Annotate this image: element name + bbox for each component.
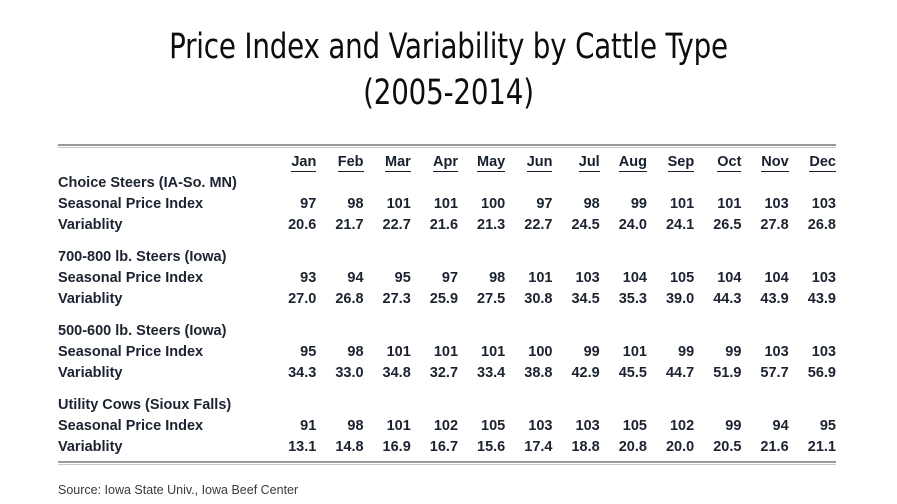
column-header-nov: Nov (741, 148, 788, 170)
table-bottom-rule (58, 461, 836, 465)
cell: 20.5 (694, 434, 741, 455)
cell: 105 (647, 265, 694, 286)
row-label-variablity: Variablity (58, 212, 269, 233)
cell: 15.6 (458, 434, 505, 455)
page-title-line-1: Price Index and Variability by Cattle Ty… (54, 24, 843, 70)
cell: 43.9 (789, 286, 836, 307)
table-row: Seasonal Price Index 91 98 101 102 105 1… (58, 413, 836, 434)
cell: 30.8 (505, 286, 552, 307)
row-label-seasonal-price-index: Seasonal Price Index (58, 265, 269, 286)
cell: 103 (552, 265, 599, 286)
cell: 18.8 (552, 434, 599, 455)
cell: 95 (364, 265, 411, 286)
cell: 99 (552, 339, 599, 360)
cell: 34.8 (364, 360, 411, 381)
cell: 103 (789, 265, 836, 286)
table-header-row: Jan Feb Mar Apr May Jun Jul Aug Sep Oct … (58, 148, 836, 170)
column-header-may: May (458, 148, 505, 170)
cell: 17.4 (505, 434, 552, 455)
cell: 104 (694, 265, 741, 286)
group-label-choice-steers: Choice Steers (IA-So. MN) (58, 170, 836, 191)
cell: 24.5 (552, 212, 599, 233)
column-header-apr: Apr (411, 148, 458, 170)
cell: 99 (694, 413, 741, 434)
cell: 26.8 (789, 212, 836, 233)
cell: 101 (458, 339, 505, 360)
cell: 44.7 (647, 360, 694, 381)
table-group-heading-row: Utility Cows (Sioux Falls) (58, 392, 836, 413)
page-title: Price Index and Variability by Cattle Ty… (54, 24, 843, 116)
table-header: Jan Feb Mar Apr May Jun Jul Aug Sep Oct … (58, 148, 836, 170)
cell: 14.8 (316, 434, 363, 455)
cell: 27.3 (364, 286, 411, 307)
cell: 98 (552, 191, 599, 212)
table-group-spacer (58, 307, 836, 318)
cell: 20.8 (600, 434, 647, 455)
cell: 34.5 (552, 286, 599, 307)
cell: 94 (741, 413, 788, 434)
cell: 20.0 (647, 434, 694, 455)
cell: 42.9 (552, 360, 599, 381)
cell: 95 (269, 339, 316, 360)
cell: 44.3 (694, 286, 741, 307)
cell: 101 (364, 339, 411, 360)
cell: 26.5 (694, 212, 741, 233)
table-row: Variablity 13.1 14.8 16.9 16.7 15.6 17.4… (58, 434, 836, 455)
cell: 99 (694, 339, 741, 360)
cell: 21.6 (741, 434, 788, 455)
cell: 98 (458, 265, 505, 286)
cell: 27.0 (269, 286, 316, 307)
cell: 22.7 (505, 212, 552, 233)
table-group-heading-row: Choice Steers (IA-So. MN) (58, 170, 836, 191)
cell: 105 (600, 413, 647, 434)
cell: 97 (505, 191, 552, 212)
cell: 13.1 (269, 434, 316, 455)
cell: 33.0 (316, 360, 363, 381)
row-label-seasonal-price-index: Seasonal Price Index (58, 191, 269, 212)
group-label-utility-cows: Utility Cows (Sioux Falls) (58, 392, 836, 413)
cell: 104 (741, 265, 788, 286)
cell: 100 (458, 191, 505, 212)
cell: 56.9 (789, 360, 836, 381)
group-label-500-600-lb-steers: 500-600 lb. Steers (Iowa) (58, 318, 836, 339)
group-label-700-800-lb-steers: 700-800 lb. Steers (Iowa) (58, 244, 836, 265)
column-header-feb: Feb (316, 148, 363, 170)
cell: 101 (364, 413, 411, 434)
row-label-seasonal-price-index: Seasonal Price Index (58, 413, 269, 434)
cell: 27.5 (458, 286, 505, 307)
cell: 97 (269, 191, 316, 212)
cell: 104 (600, 265, 647, 286)
cell: 32.7 (411, 360, 458, 381)
column-header-sep: Sep (647, 148, 694, 170)
cell: 101 (647, 191, 694, 212)
cell: 35.3 (600, 286, 647, 307)
cell: 103 (505, 413, 552, 434)
cell: 16.7 (411, 434, 458, 455)
cell: 98 (316, 413, 363, 434)
cell: 38.8 (505, 360, 552, 381)
column-header-mar: Mar (364, 148, 411, 170)
cell: 91 (269, 413, 316, 434)
table-corner-header (58, 148, 269, 170)
cell: 33.4 (458, 360, 505, 381)
source-note: Source: Iowa State Univ., Iowa Beef Cent… (58, 483, 298, 497)
table-group-heading-row: 700-800 lb. Steers (Iowa) (58, 244, 836, 265)
cell: 95 (789, 413, 836, 434)
cell: 105 (458, 413, 505, 434)
cell: 101 (694, 191, 741, 212)
table-row: Seasonal Price Index 97 98 101 101 100 9… (58, 191, 836, 212)
cell: 99 (600, 191, 647, 212)
cell: 25.9 (411, 286, 458, 307)
cell: 21.7 (316, 212, 363, 233)
table-body: Choice Steers (IA-So. MN) Seasonal Price… (58, 170, 836, 455)
table-row: Variablity 27.0 26.8 27.3 25.9 27.5 30.8… (58, 286, 836, 307)
cell: 21.3 (458, 212, 505, 233)
cell: 100 (505, 339, 552, 360)
cattle-price-table: Jan Feb Mar Apr May Jun Jul Aug Sep Oct … (58, 148, 836, 455)
cell: 57.7 (741, 360, 788, 381)
cell: 101 (600, 339, 647, 360)
row-label-variablity: Variablity (58, 434, 269, 455)
cell: 97 (411, 265, 458, 286)
cell: 102 (647, 413, 694, 434)
row-label-variablity: Variablity (58, 286, 269, 307)
cell: 98 (316, 191, 363, 212)
table-row: Seasonal Price Index 95 98 101 101 101 1… (58, 339, 836, 360)
cell: 24.0 (600, 212, 647, 233)
cell: 101 (364, 191, 411, 212)
column-header-dec: Dec (789, 148, 836, 170)
page-title-line-2: (2005-2014) (54, 70, 843, 116)
cell: 45.5 (600, 360, 647, 381)
table-group-spacer (58, 381, 836, 392)
cell: 21.1 (789, 434, 836, 455)
cell: 39.0 (647, 286, 694, 307)
cell: 22.7 (364, 212, 411, 233)
row-label-variablity: Variablity (58, 360, 269, 381)
column-header-jan: Jan (269, 148, 316, 170)
cell: 101 (411, 191, 458, 212)
cell: 27.8 (741, 212, 788, 233)
cell: 103 (552, 413, 599, 434)
cell: 43.9 (741, 286, 788, 307)
cell: 51.9 (694, 360, 741, 381)
column-header-jul: Jul (552, 148, 599, 170)
column-header-jun: Jun (505, 148, 552, 170)
cell: 24.1 (647, 212, 694, 233)
cell: 20.6 (269, 212, 316, 233)
column-header-aug: Aug (600, 148, 647, 170)
cell: 99 (647, 339, 694, 360)
table-row: Variablity 34.3 33.0 34.8 32.7 33.4 38.8… (58, 360, 836, 381)
cell: 103 (789, 339, 836, 360)
cell: 101 (505, 265, 552, 286)
table-group-spacer (58, 233, 836, 244)
row-label-seasonal-price-index: Seasonal Price Index (58, 339, 269, 360)
table-row: Seasonal Price Index 93 94 95 97 98 101 … (58, 265, 836, 286)
cell: 101 (411, 339, 458, 360)
cell: 103 (741, 191, 788, 212)
cattle-price-table-figure: Jan Feb Mar Apr May Jun Jul Aug Sep Oct … (58, 144, 836, 465)
cell: 93 (269, 265, 316, 286)
cell: 98 (316, 339, 363, 360)
table-row: Variablity 20.6 21.7 22.7 21.6 21.3 22.7… (58, 212, 836, 233)
table-group-heading-row: 500-600 lb. Steers (Iowa) (58, 318, 836, 339)
cell: 26.8 (316, 286, 363, 307)
column-header-oct: Oct (694, 148, 741, 170)
cell: 102 (411, 413, 458, 434)
cell: 94 (316, 265, 363, 286)
cell: 16.9 (364, 434, 411, 455)
cell: 34.3 (269, 360, 316, 381)
cell: 103 (741, 339, 788, 360)
cell: 21.6 (411, 212, 458, 233)
cell: 103 (789, 191, 836, 212)
